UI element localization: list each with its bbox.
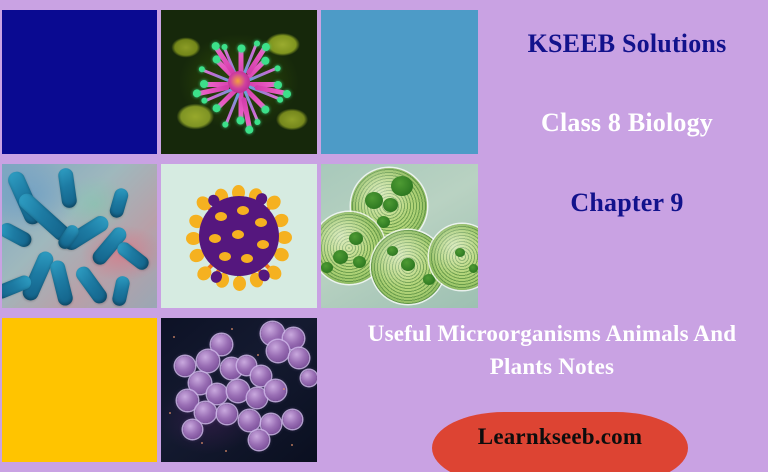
anemone-center [228,71,250,93]
site-brand-badge[interactable]: Learnkseeb.com [432,412,688,472]
tile-navy-block [2,10,157,154]
subject-heading: Useful Microorganisms Animals And Plants… [336,318,768,383]
tile-virus [161,164,317,308]
poster-canvas: KSEEB Solutions Class 8 Biology Chapter … [0,0,768,472]
text-column: KSEEB Solutions Class 8 Biology Chapter … [486,0,768,472]
brand-heading: KSEEB Solutions [486,29,768,60]
tile-steel-block [321,10,478,154]
tile-cocci [161,318,317,462]
chapter-heading: Chapter 9 [486,188,768,219]
tile-volvox [321,164,478,308]
class-heading: Class 8 Biology [486,108,768,139]
virus-capsid [199,196,279,276]
site-brand-label: Learnkseeb.com [432,424,688,450]
tile-amber-block [2,318,157,462]
tile-anemone [161,10,317,154]
tile-bacilli [2,164,157,308]
